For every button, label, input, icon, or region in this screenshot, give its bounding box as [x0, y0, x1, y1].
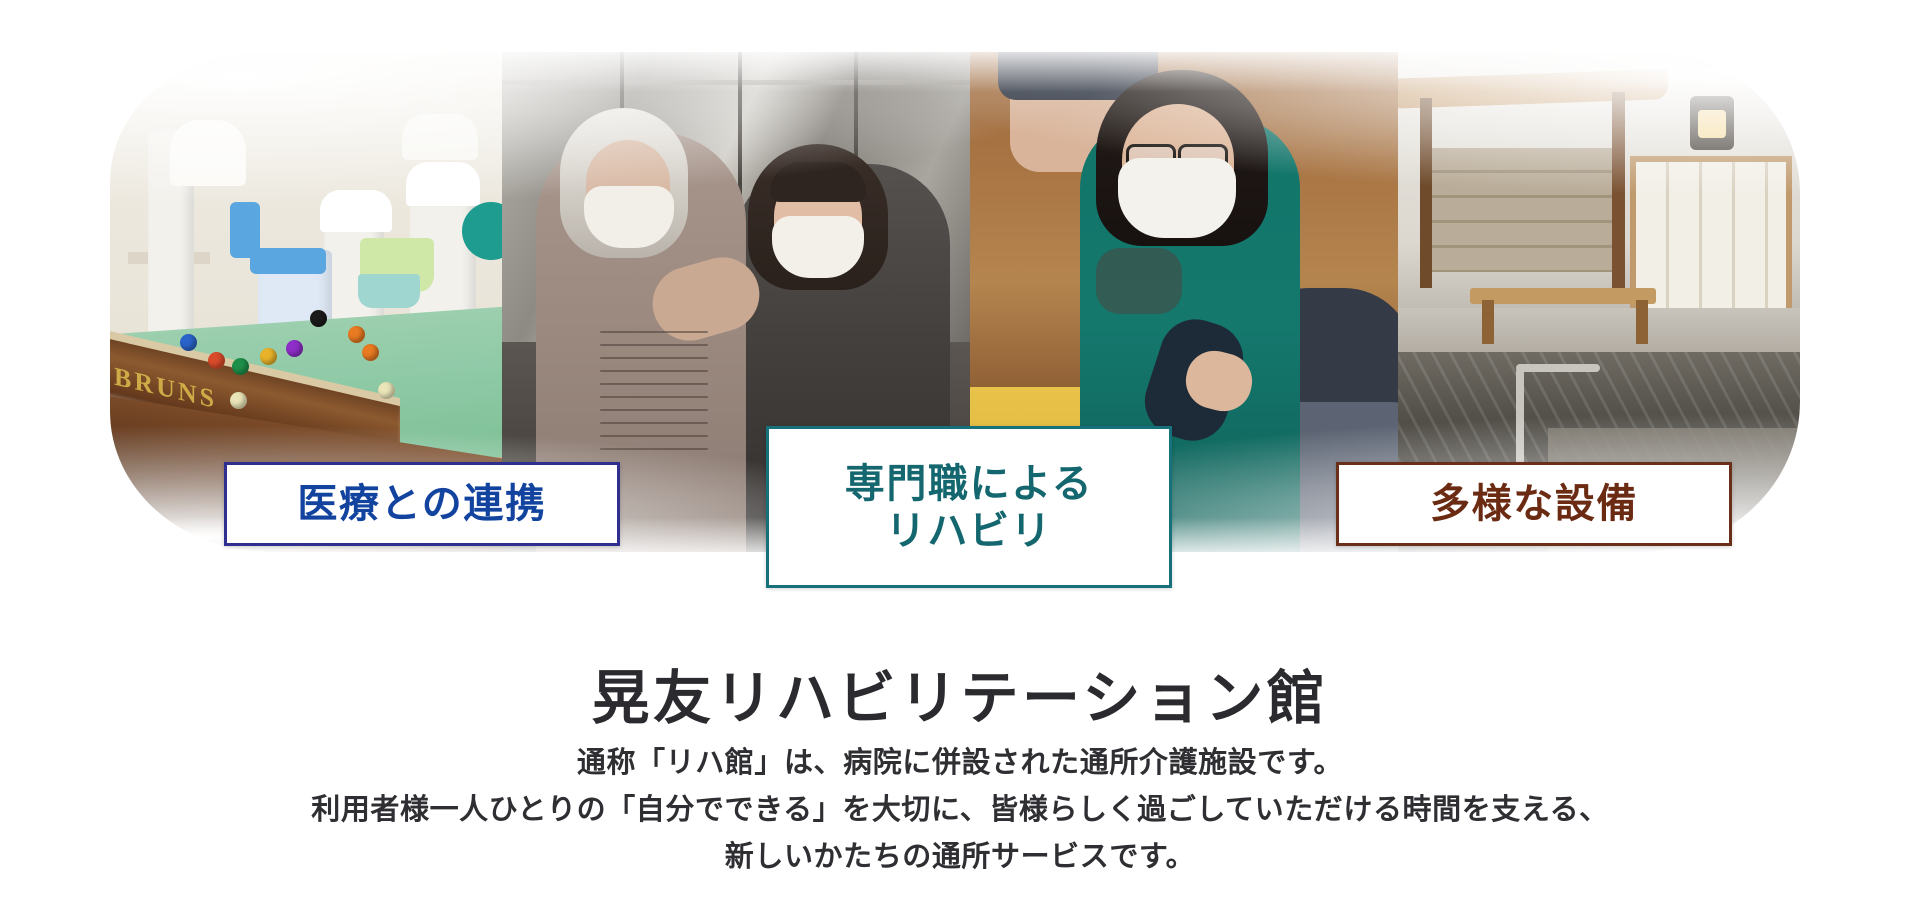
feature-label-professional-rehab-line2: リハビリ	[845, 507, 1093, 554]
feature-label-medical-cooperation-text: 医療との連携	[297, 480, 546, 527]
feature-label-professional-rehab-line1: 専門職による	[845, 460, 1093, 507]
lead-paragraph: 通称「リハ館」は、病院に併設された通所介護施設です。 利用者様一人ひとりの「自分…	[0, 740, 1920, 881]
feature-label-varied-facilities[interactable]: 多様な設備	[1336, 462, 1732, 546]
lead-line-2: 利用者様一人ひとりの「自分でできる」を大切に、皆様らしく過ごしていただける時間を…	[0, 787, 1920, 834]
billiard-ball	[310, 310, 327, 327]
lead-line-3: 新しいかたちの通所サービスです。	[0, 834, 1920, 881]
billiard-ball	[286, 340, 303, 357]
billiard-ball	[348, 326, 365, 343]
billiard-ball	[208, 352, 225, 369]
billiard-ball	[260, 348, 277, 365]
feature-label-medical-cooperation[interactable]: 医療との連携	[224, 462, 620, 546]
billiard-ball	[232, 358, 249, 375]
billiard-ball	[378, 382, 395, 399]
feature-label-professional-rehab[interactable]: 専門職による リハビリ	[766, 426, 1172, 588]
lead-line-1: 通称「リハ館」は、病院に併設された通所介護施設です。	[0, 740, 1920, 787]
billiard-ball	[362, 344, 379, 361]
billiard-ball	[230, 392, 247, 409]
page-title: 晃友リハビリテーション館	[0, 651, 1920, 735]
feature-label-varied-facilities-text: 多様な設備	[1430, 480, 1638, 527]
billiard-ball	[180, 334, 197, 351]
